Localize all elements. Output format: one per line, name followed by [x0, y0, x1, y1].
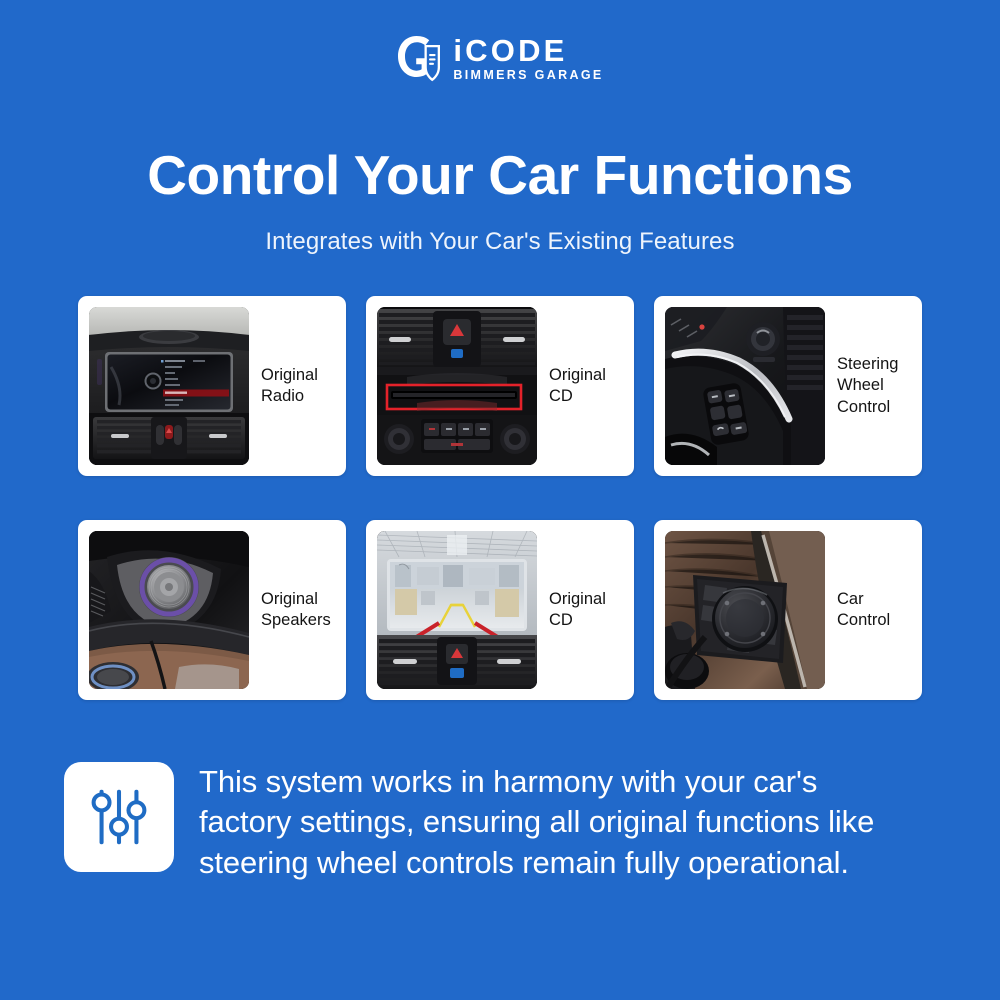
feature-card[interactable]: OriginalRadio	[78, 296, 346, 476]
bmw-head-unit-display-photo	[89, 307, 249, 465]
sliders-settings-icon	[64, 762, 174, 872]
bmw-steering-wheel-buttons-photo	[665, 307, 825, 465]
brand-name: iCODE	[453, 35, 603, 67]
card-label: OriginalSpeakers	[259, 589, 335, 631]
feature-card-grid: OriginalRadio	[78, 296, 922, 700]
feature-card[interactable]: OriginalCD	[366, 520, 634, 700]
card-label: CarControl	[835, 589, 911, 631]
card-label: OriginalRadio	[259, 365, 335, 407]
brand-logo-text: iCODE BIMMERS GARAGE	[453, 35, 603, 83]
bmw-reverse-camera-screen-photo	[377, 531, 537, 689]
footer-note: This system works in harmony with your c…	[64, 762, 944, 883]
bmw-idrive-controller-knob-photo	[665, 531, 825, 689]
feature-card[interactable]: OriginalSpeakers	[78, 520, 346, 700]
bmw-cd-slot-climate-panel-photo	[377, 307, 537, 465]
card-label: SteeringWheelControl	[835, 354, 911, 417]
feature-card[interactable]: SteeringWheelControl	[654, 296, 922, 476]
card-label: OriginalCD	[547, 589, 623, 631]
card-label: OriginalCD	[547, 365, 623, 407]
page-subtitle: Integrates with Your Car's Existing Feat…	[0, 228, 1000, 256]
feature-card[interactable]: CarControl	[654, 520, 922, 700]
bmw-dashboard-tweeter-speaker-photo	[89, 531, 249, 689]
footer-note-text: This system works in harmony with your c…	[199, 762, 899, 883]
brand-tagline: BIMMERS GARAGE	[453, 69, 603, 83]
poster-root: iCODE BIMMERS GARAGE Control Your Car Fu…	[0, 0, 1000, 1000]
feature-card[interactable]: OriginalCD	[366, 296, 634, 476]
page-title: Control Your Car Functions	[0, 145, 1000, 207]
brand-logo: iCODE BIMMERS GARAGE	[0, 34, 1000, 84]
icode-shield-g-logo-icon	[396, 34, 442, 84]
